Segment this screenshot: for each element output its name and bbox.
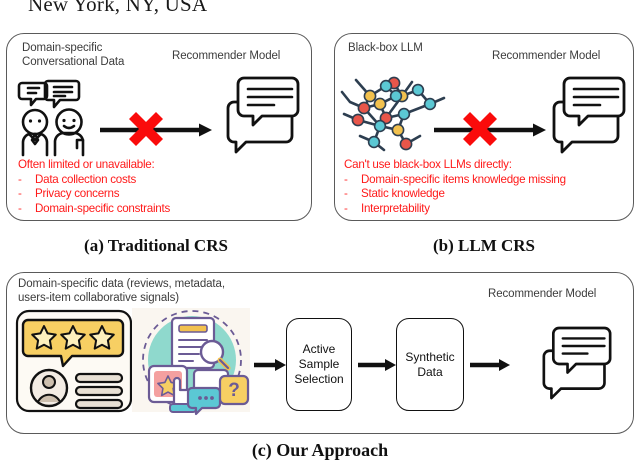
- caption-panel-c: (c) Our Approach: [0, 440, 640, 461]
- panel-a-issue-list: Often limited or unavailable: -Data coll…: [18, 158, 170, 216]
- panel-b-issue-list: Can't use black-box LLMs directly: -Doma…: [344, 158, 566, 216]
- panel-a-issue-1: -Privacy concerns: [18, 187, 170, 202]
- bullet-dash: -: [344, 173, 361, 188]
- panel-c-target-label: Recommender Model: [488, 288, 596, 300]
- panel-a-issue-0: -Data collection costs: [18, 173, 170, 188]
- process-box-1-label: Active Sample Selection: [294, 342, 343, 387]
- venue-title: New York, NY, USA: [0, 0, 640, 17]
- panel-a-issue-2-text: Domain-specific constraints: [35, 202, 170, 215]
- panel-c-arrow-1: [254, 356, 288, 374]
- arrow-icon: [254, 359, 286, 371]
- panel-c-source-label: Domain-specific data (reviews, metadata,…: [18, 278, 225, 305]
- bullet-dash: -: [18, 202, 35, 217]
- two-people-conversation-icon: [14, 78, 110, 156]
- bullet-dash: -: [344, 187, 361, 202]
- chat-bubbles-icon: [548, 78, 630, 154]
- panel-b-issue-2-text: Interpretability: [361, 202, 430, 215]
- document-search-feedback-icon: ?: [132, 308, 250, 412]
- bullet-dash: -: [344, 202, 361, 217]
- panel-b-issue-2: -Interpretability: [344, 202, 566, 217]
- bullet-dash: -: [18, 173, 35, 188]
- panel-a-source-label: Domain-specific Conversational Data: [22, 42, 124, 69]
- svg-text:?: ?: [228, 380, 240, 401]
- process-box-2-label: Synthetic Data: [405, 350, 454, 380]
- panel-c-arrow-3: [470, 356, 512, 374]
- bullet-dash: -: [18, 187, 35, 202]
- arrow-icon: [470, 359, 510, 371]
- process-box-synthetic-data[interactable]: Synthetic Data: [396, 318, 464, 411]
- panel-b-target-label: Recommender Model: [492, 50, 600, 62]
- process-box-active-sample-selection[interactable]: Active Sample Selection: [286, 318, 352, 411]
- caption-panel-b: (b) LLM CRS: [334, 236, 634, 256]
- panel-c-arrow-2: [358, 356, 398, 374]
- panel-b-source-label: Black-box LLM: [348, 42, 423, 56]
- caption-panel-a: (a) Traditional CRS: [0, 236, 312, 256]
- panel-a-issue-1-text: Privacy concerns: [35, 187, 119, 200]
- panel-b-issue-1-text: Static knowledge: [361, 187, 445, 200]
- review-stars-user-icon: [16, 310, 132, 412]
- red-x-icon: [125, 108, 167, 150]
- chat-bubbles-icon: [222, 78, 304, 154]
- panel-b-issue-0-text: Domain-specific items knowledge missing: [361, 173, 566, 186]
- panel-a-issues-heading: Often limited or unavailable:: [18, 158, 170, 173]
- panel-b-issue-0: -Domain-specific items knowledge missing: [344, 173, 566, 188]
- panel-a-issue-0-text: Data collection costs: [35, 173, 136, 186]
- panel-b-issues-heading: Can't use black-box LLMs directly:: [344, 158, 566, 173]
- panel-a-target-label: Recommender Model: [172, 50, 280, 62]
- panel-b-issue-1: -Static knowledge: [344, 187, 566, 202]
- panel-a-issue-2: -Domain-specific constraints: [18, 202, 170, 217]
- figure-root: New York, NY, USA Domain-specific Conver…: [0, 0, 640, 471]
- arrow-icon: [358, 359, 396, 371]
- red-x-icon: [459, 108, 501, 150]
- chat-bubbles-icon: [538, 328, 616, 400]
